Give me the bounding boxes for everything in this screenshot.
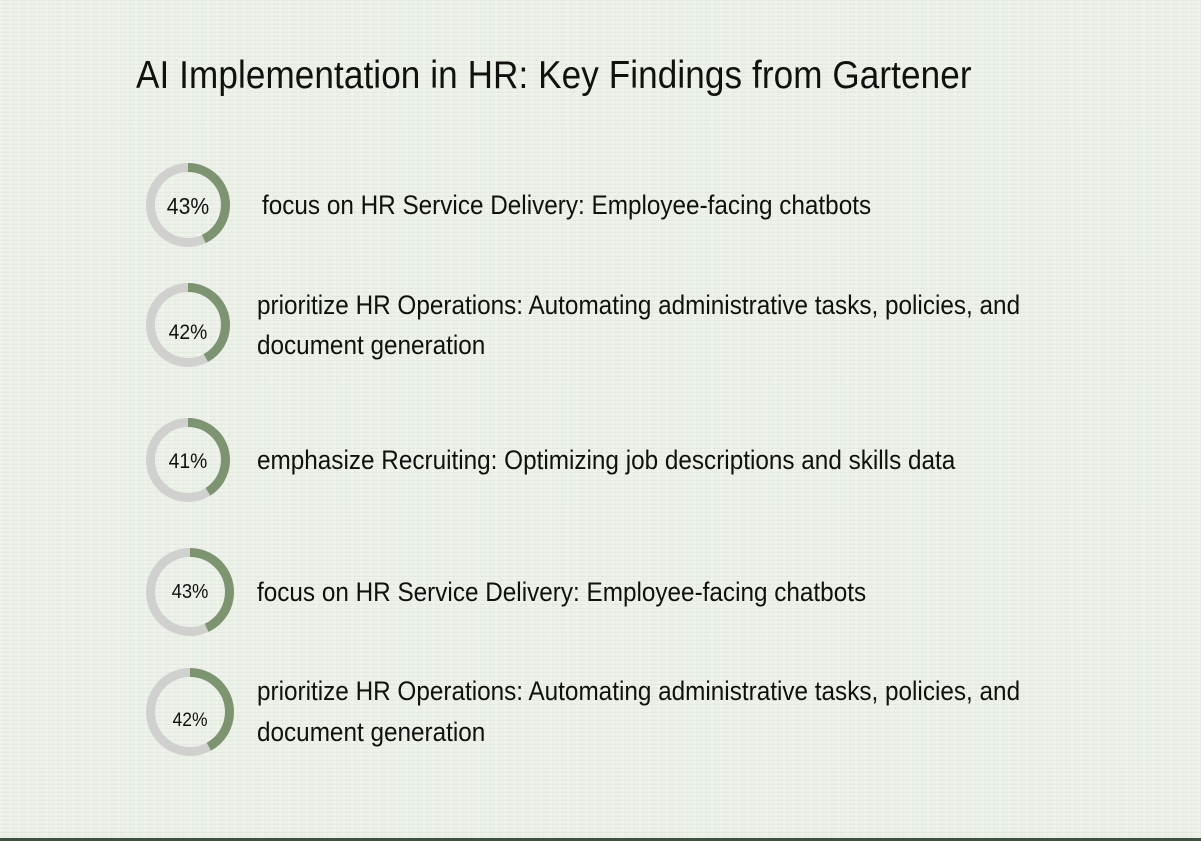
donut-progress-chart: 41% — [146, 418, 230, 502]
donut-percent-label: 43% — [150, 581, 231, 604]
finding-row: 41%emphasize Recruiting: Optimizing job … — [0, 418, 1097, 502]
donut-percent-label: 42% — [149, 321, 226, 345]
donut-progress-chart: 43% — [146, 548, 234, 636]
finding-text: focus on HR Service Delivery: Employee-f… — [262, 187, 973, 223]
finding-row: 42%prioritize HR Operations: Automating … — [0, 283, 1157, 367]
slide-canvas: AI Implementation in HR: Key Findings fr… — [0, 0, 1201, 841]
donut-progress-chart: 43% — [146, 163, 230, 247]
page-title: AI Implementation in HR: Key Findings fr… — [136, 52, 1045, 100]
finding-text: emphasize Recruiting: Optimizing job des… — [257, 442, 1013, 478]
donut-percent-label: 41% — [149, 450, 226, 474]
finding-row: 43%focus on HR Service Delivery: Employe… — [0, 548, 1047, 636]
finding-text: prioritize HR Operations: Automating adm… — [257, 671, 1049, 753]
finding-row: 42%prioritize HR Operations: Automating … — [0, 668, 1137, 756]
donut-percent-label: 42% — [150, 710, 231, 732]
donut-progress-chart: 42% — [146, 283, 230, 367]
finding-text: prioritize HR Operations: Automating adm… — [257, 285, 1067, 365]
donut-progress-chart: 42% — [146, 668, 234, 756]
donut-percent-label: 43% — [149, 193, 226, 220]
finding-row: 43%focus on HR Service Delivery: Employe… — [0, 163, 1052, 247]
finding-text: focus on HR Service Delivery: Employee-f… — [257, 574, 968, 610]
